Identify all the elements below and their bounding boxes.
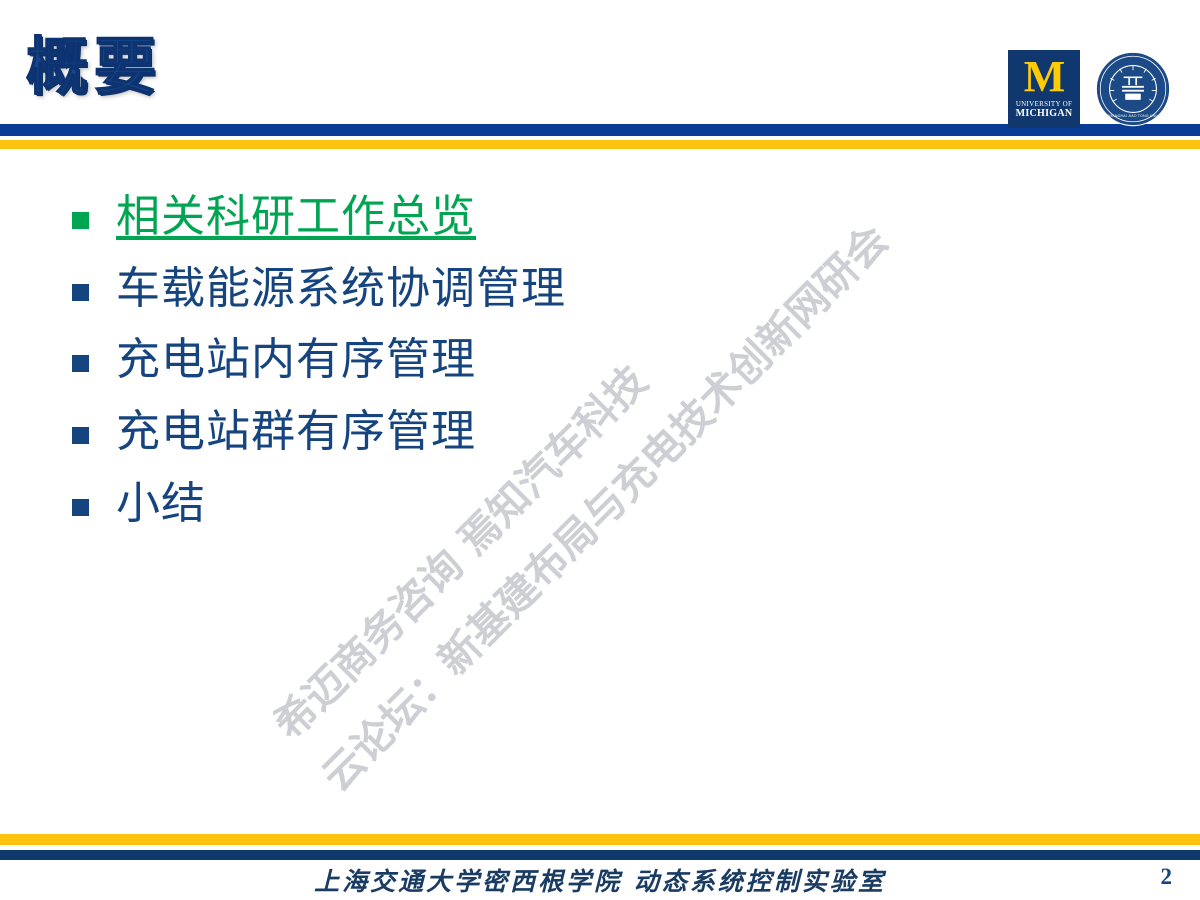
list-item-label[interactable]: 相关科研工作总览 [116, 190, 476, 244]
michigan-logo-line1: UNIVERSITY OF [1016, 100, 1072, 108]
list-item[interactable]: 充电站群有序管理 [72, 405, 972, 459]
list-item-label: 小结 [116, 477, 206, 531]
list-item[interactable]: 车载能源系统协调管理 [72, 262, 972, 316]
bullet-list: 相关科研工作总览 车载能源系统协调管理 充电站内有序管理 充电站群有序管理 小结 [72, 190, 972, 548]
page-number: 2 [1161, 864, 1173, 890]
list-item-label: 充电站内有序管理 [116, 333, 476, 387]
footer-rule-gold [0, 834, 1200, 845]
page-title: 概要 [26, 36, 162, 98]
header-rule-gold [0, 140, 1200, 149]
university-of-michigan-logo: M UNIVERSITY OF MICHIGAN [1008, 50, 1080, 128]
footer-rule-navy [0, 850, 1200, 860]
list-item[interactable]: 小结 [72, 477, 972, 531]
logo-bar: M UNIVERSITY OF MICHIGAN SHANGHAI [1008, 50, 1172, 128]
square-bullet-icon [72, 427, 89, 444]
michigan-logo-line2: MICHIGAN [1016, 108, 1073, 119]
list-item[interactable]: 相关科研工作总览 [72, 190, 972, 244]
footer-text: 上海交通大学密西根学院 动态系统控制实验室 [0, 862, 1200, 898]
list-item-label: 充电站群有序管理 [116, 405, 476, 459]
shanghai-jiao-tong-university-seal: SHANGHAI JIAO TONG UNIV [1094, 50, 1172, 128]
square-bullet-icon [72, 284, 89, 301]
list-item[interactable]: 充电站内有序管理 [72, 333, 972, 387]
svg-text:SHANGHAI JIAO TONG UNIV: SHANGHAI JIAO TONG UNIV [1107, 114, 1159, 118]
list-item-label: 车载能源系统协调管理 [116, 262, 566, 316]
square-bullet-icon [72, 355, 89, 372]
michigan-m-monogram: M [1024, 56, 1065, 98]
square-bullet-icon [72, 499, 89, 516]
presentation-slide: 概要 M UNIVERSITY OF MICHIGAN [0, 0, 1200, 900]
square-bullet-icon [72, 212, 89, 229]
